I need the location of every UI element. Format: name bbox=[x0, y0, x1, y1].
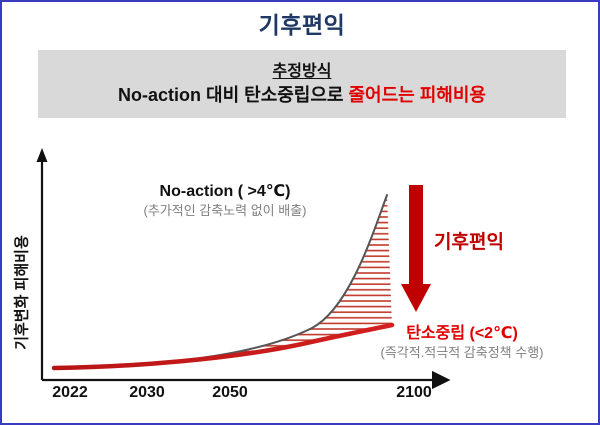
noaction-series-label: No-action ( >4℃) (추가적인 감축노력 없이 배출) bbox=[110, 182, 340, 220]
y-axis-arrowhead bbox=[37, 148, 48, 162]
chart-plot-svg bbox=[2, 132, 600, 425]
x-tick-2030: 2030 bbox=[107, 384, 187, 402]
carbon-neutral-series-title: 탄소중립 (<2℃) bbox=[342, 324, 582, 345]
page-title: 기후편익 bbox=[2, 6, 600, 40]
estimation-method-description: No-action 대비 탄소중립으로 줄어드는 피해비용 bbox=[118, 85, 486, 107]
climate-benefit-chart: 기후변화 피해비용 2022 2030 2050 2100 No-action … bbox=[2, 132, 600, 425]
benefit-annotation-label: 기후편익 bbox=[434, 227, 504, 254]
noaction-series-title: No-action ( >4℃) bbox=[110, 182, 340, 203]
estimation-desc-plain: No-action 대비 탄소중립으로 bbox=[118, 85, 348, 105]
x-tick-2100: 2100 bbox=[374, 384, 454, 402]
estimation-method-heading: 추정방식 bbox=[273, 62, 332, 82]
noaction-series-sublabel: (추가적인 감축노력 없이 배출) bbox=[110, 203, 340, 220]
noaction-curve bbox=[54, 195, 387, 368]
carbon-neutral-series-sublabel: (즉각적.적극적 감축정책 수행) bbox=[342, 345, 582, 362]
x-tick-2022: 2022 bbox=[30, 384, 110, 402]
benefit-arrow-icon bbox=[401, 185, 431, 312]
carbon-neutral-series-label: 탄소중립 (<2℃) (즉각적.적극적 감축정책 수행) bbox=[342, 324, 582, 362]
slide-canvas: 기후편익 추정방식 No-action 대비 탄소중립으로 줄어드는 피해비용 bbox=[0, 0, 600, 425]
estimation-desc-highlight: 줄어드는 피해비용 bbox=[349, 85, 486, 105]
y-axis-title: 기후변화 피해비용 bbox=[11, 213, 32, 373]
x-tick-2050: 2050 bbox=[190, 384, 270, 402]
estimation-method-box: 추정방식 No-action 대비 탄소중립으로 줄어드는 피해비용 bbox=[38, 50, 566, 118]
